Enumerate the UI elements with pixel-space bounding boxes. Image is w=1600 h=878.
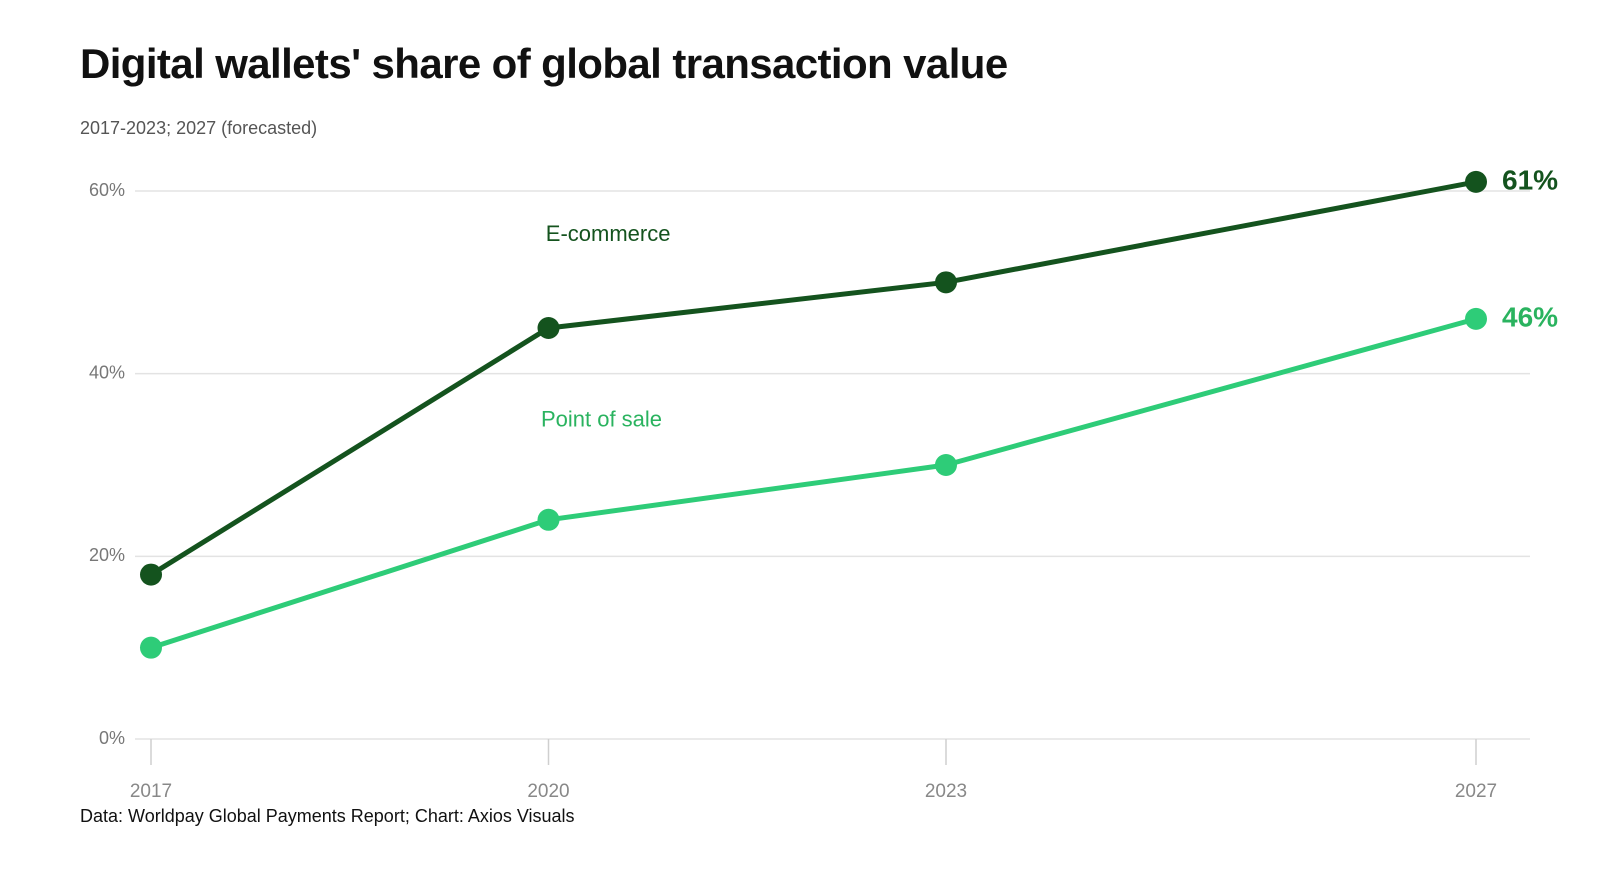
data-point[interactable] — [538, 317, 560, 339]
y-axis-tick-label: 0% — [99, 728, 125, 748]
series-label-point-of-sale: Point of sale — [541, 407, 662, 432]
end-value-label: 61% — [1502, 164, 1558, 195]
data-point[interactable] — [1465, 171, 1487, 193]
series-line-point-of-sale — [151, 319, 1476, 648]
chart-card: Digital wallets' share of global transac… — [0, 0, 1600, 878]
data-point[interactable] — [935, 454, 957, 476]
y-axis-tick-label: 40% — [89, 362, 125, 382]
y-axis-tick-label: 60% — [89, 180, 125, 200]
chart-source-note: Data: Worldpay Global Payments Report; C… — [80, 806, 575, 827]
x-axis-tick-label: 2027 — [1455, 781, 1497, 802]
data-point[interactable] — [935, 271, 957, 293]
data-point[interactable] — [538, 509, 560, 531]
series-label-e-commerce: E-commerce — [546, 221, 671, 246]
line-chart-svg: 0%20%40%60%2017202020232027E-commerce61%… — [0, 0, 1600, 810]
x-axis-tick-label: 2023 — [925, 781, 967, 802]
data-point[interactable] — [140, 637, 162, 659]
data-point[interactable] — [140, 564, 162, 586]
x-axis-tick-label: 2017 — [130, 781, 172, 802]
end-value-label: 46% — [1502, 301, 1558, 332]
plot-area: 0%20%40%60%2017202020232027E-commerce61%… — [0, 0, 1600, 810]
y-axis-tick-label: 20% — [89, 545, 125, 565]
x-axis-tick-label: 2020 — [527, 781, 569, 802]
data-point[interactable] — [1465, 308, 1487, 330]
series-line-e-commerce — [151, 182, 1476, 575]
